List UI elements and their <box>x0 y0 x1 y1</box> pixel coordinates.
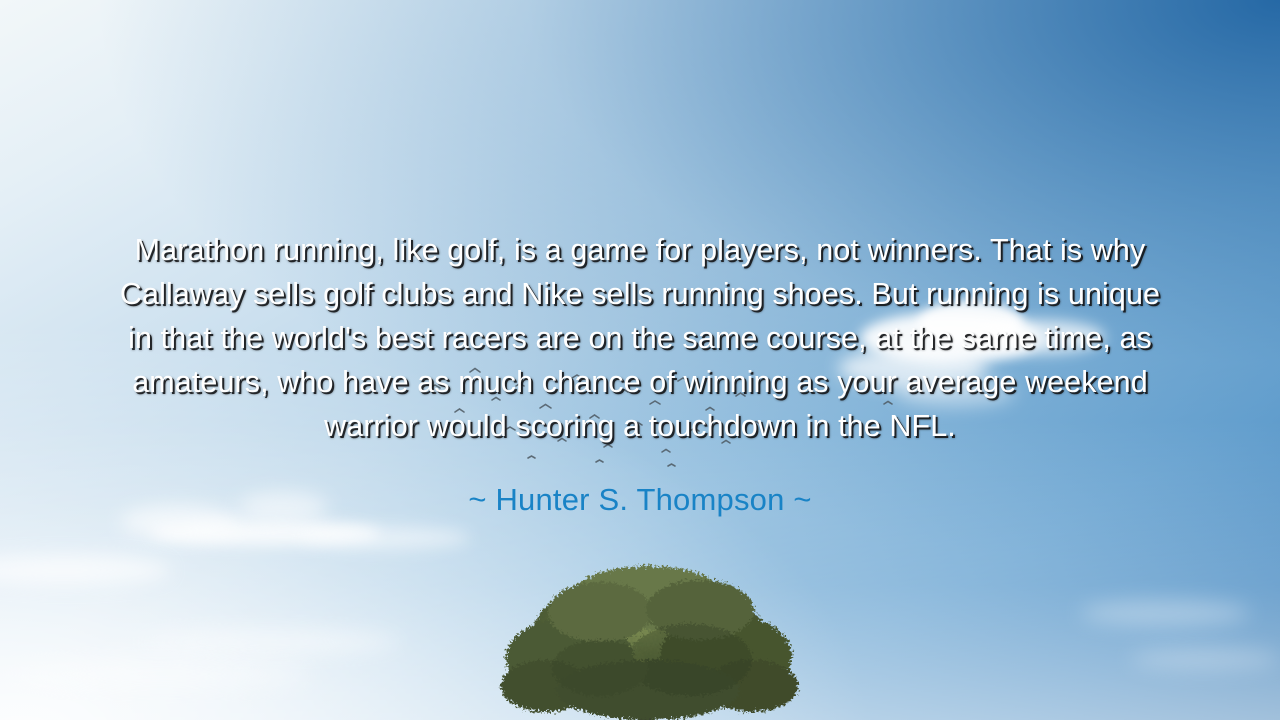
quote-content: Marathon running, like golf, is a game f… <box>0 228 1280 520</box>
quote-card: Marathon running, like golf, is a game f… <box>0 0 1280 720</box>
quote-attribution: ~ Hunter S. Thompson ~ <box>64 448 1216 520</box>
quote-text: Marathon running, like golf, is a game f… <box>110 228 1170 448</box>
